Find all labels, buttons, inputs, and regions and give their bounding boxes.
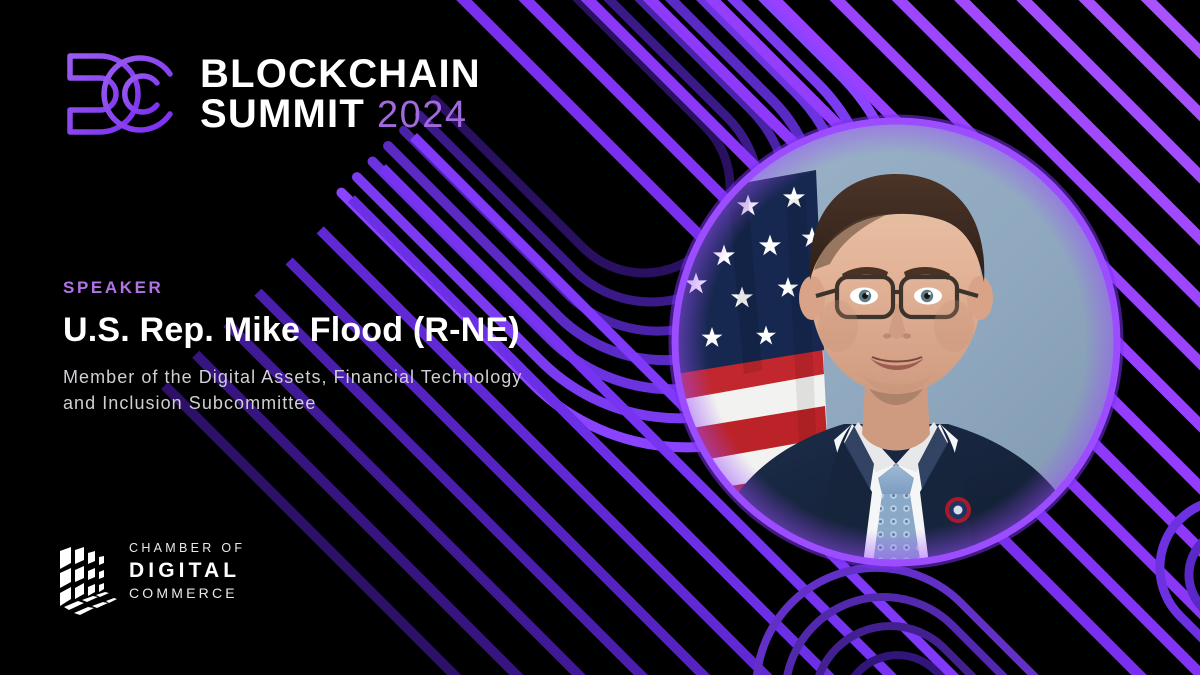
wordmark-blockchain: BLOCKCHAIN bbox=[200, 54, 481, 94]
dc-monogram-icon bbox=[62, 48, 180, 140]
speaker-role: Member of the Digital Assets, Financial … bbox=[63, 364, 533, 416]
chamber-line-commerce: COMMERCE bbox=[129, 586, 245, 600]
event-logo-lockup: BLOCKCHAIN SUMMIT 2024 bbox=[62, 48, 481, 140]
wordmark-year: 2024 bbox=[377, 96, 468, 134]
speaker-label: SPEAKER bbox=[63, 278, 603, 298]
chamber-line-digital: DIGITAL bbox=[129, 560, 245, 581]
chamber-perspective-grid-icon bbox=[58, 527, 120, 615]
wordmark-summit: SUMMIT bbox=[200, 94, 365, 134]
event-wordmark: BLOCKCHAIN SUMMIT 2024 bbox=[200, 54, 481, 134]
speaker-name: U.S. Rep. Mike Flood (R-NE) bbox=[63, 311, 603, 350]
speaker-info-block: SPEAKER U.S. Rep. Mike Flood (R-NE) Memb… bbox=[63, 278, 603, 416]
speaker-announcement-graphic: BLOCKCHAIN SUMMIT 2024 SPEAKER U.S. Rep.… bbox=[0, 0, 1200, 675]
speaker-portrait: Portrait of U.S. Rep. Mike Flood in a na… bbox=[666, 112, 1126, 572]
chamber-line-chamber-of: CHAMBER OF bbox=[129, 542, 245, 555]
chamber-wordmark: CHAMBER OF DIGITAL COMMERCE bbox=[129, 542, 245, 600]
speaker-portrait-image: Portrait of U.S. Rep. Mike Flood in a na… bbox=[666, 112, 1126, 572]
chamber-of-digital-commerce-logo: CHAMBER OF DIGITAL COMMERCE bbox=[58, 527, 245, 615]
